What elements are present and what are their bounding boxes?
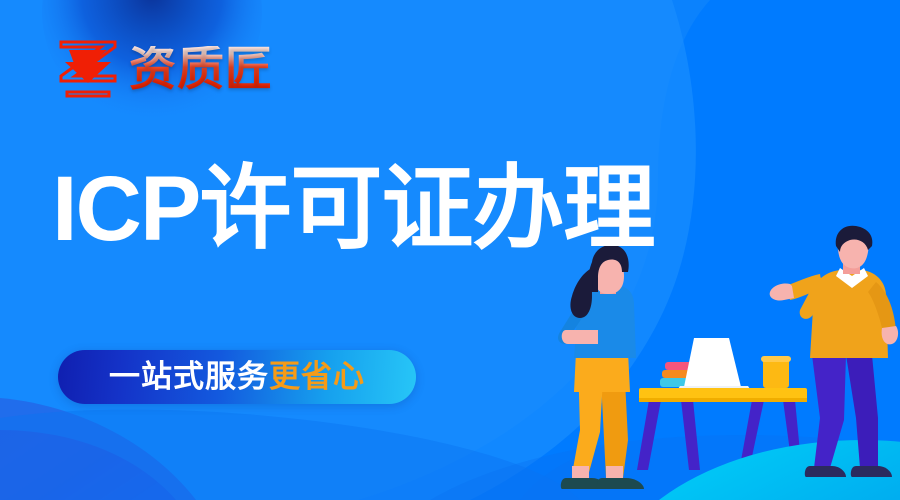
desk-leg-4 xyxy=(783,400,800,452)
woman-ankle-right xyxy=(606,466,623,480)
headline-latin: ICP xyxy=(52,158,199,260)
laptop-screen xyxy=(684,338,741,387)
headline-cjk: 许可证办理 xyxy=(199,155,654,262)
icp-promo-banner: 资质匠 ICP许可证办理 一站式服务更省心 xyxy=(0,0,900,500)
tagline-text: 一站式服务更省心 xyxy=(109,362,365,393)
tagline-pill[interactable]: 一站式服务更省心 xyxy=(58,350,416,404)
page-title: ICP许可证办理 xyxy=(52,160,654,259)
woman-forearm xyxy=(562,330,598,344)
desk-top-edge xyxy=(639,398,807,402)
woman-figure xyxy=(558,245,644,489)
woman-shoe-right xyxy=(597,478,644,489)
coffee-cup xyxy=(761,356,791,388)
woman-ankle-left xyxy=(572,466,589,480)
cup-rim xyxy=(761,356,791,362)
logo-base-line xyxy=(67,92,109,96)
ground-band xyxy=(0,409,580,500)
man-hand-left xyxy=(770,283,794,300)
desk-leg-2 xyxy=(681,400,700,470)
brand-name: 资质匠 xyxy=(129,46,273,93)
brand-logo[interactable]: 资质匠 xyxy=(55,33,273,105)
desk-leg-1 xyxy=(637,400,661,470)
z-hourglass-logo-icon xyxy=(55,36,121,102)
tagline-primary: 一站式服务 xyxy=(109,359,269,395)
tagline-accent: 更省心 xyxy=(269,359,365,395)
cup-body xyxy=(763,358,789,388)
